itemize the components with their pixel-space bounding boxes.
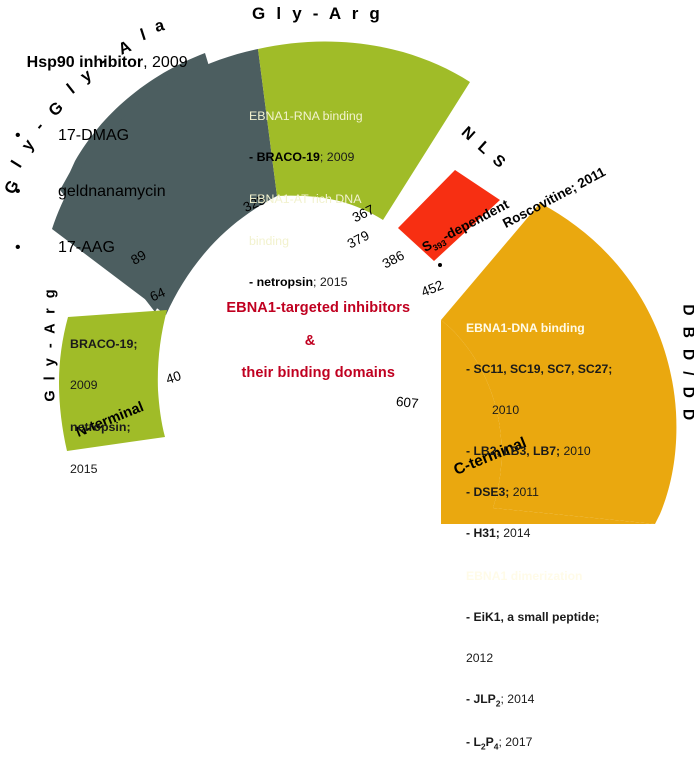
figure-canvas: G l y - G l y - A l a G l y - A r g N L …	[0, 0, 694, 524]
bullet-dot-icon	[438, 263, 442, 267]
content-gly-arg-top: EBNA1-RNA binding - BRACO-19; 2009 EBNA1…	[249, 82, 419, 318]
inhibitor-name: netropsin;	[70, 421, 180, 435]
inhibitor-name: - BRACO-19	[249, 150, 320, 164]
bullet-label: 17-DMAG	[58, 127, 129, 144]
label-gly-arg-top: G l y - A r g	[252, 4, 383, 24]
inhibitor-name: - SC11, SC19, SC7, SC27;	[466, 362, 612, 376]
hsp90-heading-bold: Hsp90 inhibitor	[27, 54, 143, 71]
target-heading: EBNA1-RNA binding	[249, 110, 419, 124]
list-item: - SC11, SC19, SC7, SC27;	[466, 363, 681, 377]
list-item: •17-DMAG	[0, 127, 188, 145]
list-item: - EiK1, a small peptide;	[466, 611, 681, 625]
content-gly-arg-left: BRACO-19; 2009 netropsin; 2015	[70, 310, 180, 504]
inhibitor-year: 2011	[509, 485, 539, 499]
hsp90-heading-year: , 2009	[143, 54, 187, 71]
list-item: - H31; 2014	[466, 527, 681, 541]
list-item: - L2P4; 2017	[466, 736, 681, 752]
list-item-year: 2012	[466, 652, 681, 666]
list-item: •17-AAG	[0, 239, 188, 257]
center-title-line2: their binding domains	[241, 365, 395, 381]
inhibitor-year: ; 2009	[320, 150, 354, 164]
label-gly-arg-left: G l y - A r g	[43, 286, 59, 401]
inhibitor-name: - H31;	[466, 526, 500, 540]
content-gly-gly-ala: Hsp90 inhibitor, 2009 •17-DMAG •geldnana…	[0, 0, 188, 293]
bullet-dot-icon: •	[0, 239, 58, 257]
bullet-label: geldnanamycin	[58, 183, 166, 200]
list-item-year: 2010	[466, 404, 681, 418]
bullet-dot-icon: •	[0, 183, 58, 201]
inhibitor-year: ; 2015	[313, 275, 347, 289]
l2p4-l: - L	[466, 735, 481, 749]
hsp90-heading: Hsp90 inhibitor, 2009	[0, 36, 188, 90]
inhibitor-line: - BRACO-19; 2009	[249, 151, 419, 165]
inhibitor-line: - netropsin; 2015	[249, 276, 419, 290]
inhibitor-year: ; 2014	[501, 692, 535, 706]
target-heading: EBNA1-DNA binding	[466, 322, 681, 336]
inhibitor-name: - JLP2	[466, 692, 501, 706]
inhibitor-year: 2015	[70, 463, 180, 477]
inhibitor-name: - EiK1, a small peptide;	[466, 610, 599, 624]
target-heading-cont: binding	[249, 235, 419, 249]
l2p4-p: P	[486, 735, 494, 749]
list-item: •geldnanamycin	[0, 183, 188, 201]
list-item: - DSE3; 2011	[466, 486, 681, 500]
target-heading: EBNA1-AT rich DNA	[249, 193, 419, 207]
list-item: - LB2, LB3, LB7; 2010	[466, 445, 681, 459]
inhibitor-name-bold: netropsin;	[70, 420, 131, 434]
bullet-dot-icon: •	[0, 127, 58, 145]
inhibitor-name: BRACO-19;	[70, 338, 180, 352]
inhibitor-name: - DSE3;	[466, 485, 509, 499]
list-item: - JLP2; 2014	[466, 693, 681, 709]
inhibitor-year: 2010	[560, 444, 591, 458]
center-title-amp: &	[195, 333, 425, 349]
content-dbd-dd: EBNA1-DNA binding - SC11, SC19, SC7, SC2…	[466, 295, 681, 780]
inhibitor-year: 2014	[500, 526, 531, 540]
bullet-label: 17-AAG	[58, 239, 115, 256]
inhibitor-name: - LB2, LB3, LB7;	[466, 444, 560, 458]
jlp-base: - JLP	[466, 692, 496, 706]
inhibitor-year: 2009	[70, 379, 180, 393]
target-heading: EBNA1 dimerization	[466, 570, 681, 584]
inhibitor-year: ; 2017	[499, 735, 533, 749]
inhibitor-name: - netropsin	[249, 275, 313, 289]
inhibitor-name-bold: BRACO-19;	[70, 337, 137, 351]
inhibitor-name: - L2P4	[466, 735, 499, 749]
